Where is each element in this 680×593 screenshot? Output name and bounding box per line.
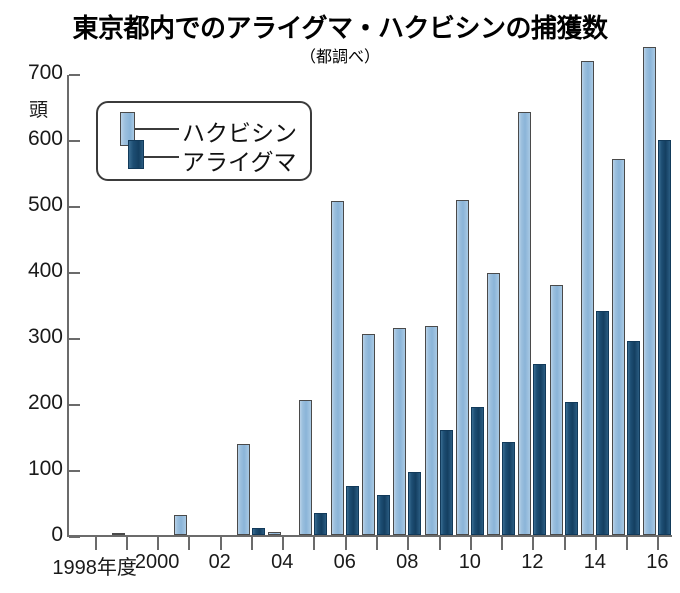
- y-axis-tick-0: [69, 536, 80, 538]
- bar-2003-araiguma: [252, 528, 265, 535]
- x-axis-tick-1999: [126, 537, 128, 550]
- bar-2015-araiguma: [627, 341, 640, 535]
- bar-2012-araiguma: [533, 364, 546, 535]
- y-axis-label-200: 200: [7, 391, 63, 415]
- bar-2010-araiguma: [471, 407, 484, 535]
- bar-2003-hakubishin: [237, 444, 250, 535]
- x-axis-label-2000: 2000: [135, 551, 180, 574]
- bar-2007-araiguma: [377, 495, 390, 535]
- y-axis-tick-600: [69, 140, 80, 142]
- x-axis-tick-2007: [376, 537, 378, 550]
- bar-chart: 東京都内でのアライグマ・ハクビシンの捕獲数 （都調べ） 010020030040…: [0, 0, 680, 593]
- chart-legend: ハクビシン アライグマ: [96, 101, 312, 181]
- bar-2005-hakubishin: [299, 400, 312, 535]
- y-axis-label-700: 700: [7, 61, 63, 85]
- x-axis-label-2004: 04: [271, 551, 293, 574]
- y-axis-tick-300: [69, 338, 80, 340]
- bar-2016-araiguma: [658, 140, 671, 535]
- chart-title: 東京都内でのアライグマ・ハクビシンの捕獲数: [0, 8, 680, 45]
- bar-2005-araiguma: [314, 513, 327, 535]
- y-axis-tick-100: [69, 470, 80, 472]
- bar-2004-hakubishin: [268, 532, 281, 535]
- bar-2010-hakubishin: [456, 200, 469, 535]
- x-axis-tick-2011: [501, 537, 503, 550]
- bar-2009-hakubishin: [425, 326, 438, 535]
- dark-blue-bar-icon: [128, 140, 144, 169]
- y-axis-tick-500: [69, 206, 80, 208]
- x-axis-tick-2009: [439, 537, 441, 550]
- x-axis-tick-2006: [345, 537, 347, 550]
- bar-2006-araiguma: [346, 486, 359, 536]
- bar-2012-hakubishin: [518, 112, 531, 535]
- bar-2006-hakubishin: [331, 201, 344, 535]
- bar-2001-hakubishin: [174, 515, 187, 535]
- x-axis-label-2016: 16: [646, 551, 668, 574]
- bar-2008-araiguma: [408, 472, 421, 535]
- chart-subtitle: （都調べ）: [0, 43, 680, 67]
- y-axis-tick-200: [69, 404, 80, 406]
- x-axis-tick-2008: [407, 537, 409, 550]
- bar-2013-hakubishin: [550, 285, 563, 535]
- legend-label-araiguma: アライグマ: [182, 143, 297, 177]
- bar-2014-araiguma: [596, 311, 609, 535]
- x-axis-tick-2016: [657, 537, 659, 550]
- x-axis-label-2012: 12: [521, 551, 543, 574]
- bar-2016-hakubishin: [643, 47, 656, 535]
- x-axis-tick-2004: [282, 537, 284, 550]
- legend-leader-line-1: [135, 128, 179, 130]
- y-axis-label-300: 300: [7, 325, 63, 349]
- legend-leader-line-2: [144, 156, 179, 158]
- x-axis-label-1998: 1998年度: [52, 551, 137, 580]
- bar-2014-hakubishin: [581, 61, 594, 535]
- bar-1999-hakubishin: [112, 533, 125, 535]
- x-axis-label-2014: 14: [584, 551, 606, 574]
- y-axis-label-0: 0: [7, 523, 63, 547]
- x-axis-tick-2003: [251, 537, 253, 550]
- x-axis-tick-2002: [220, 537, 222, 550]
- y-axis-tick-700: [69, 74, 80, 76]
- x-axis-tick-2012: [532, 537, 534, 550]
- x-axis-tick-2005: [313, 537, 315, 550]
- x-axis-label-2008: 08: [396, 551, 418, 574]
- x-axis-tick-1998: [95, 537, 97, 550]
- x-axis-label-2002: 02: [209, 551, 231, 574]
- y-axis-label-500: 500: [7, 193, 63, 217]
- x-axis-tick-2010: [470, 537, 472, 550]
- bar-2008-hakubishin: [393, 328, 406, 535]
- x-axis-tick-2000: [157, 537, 159, 550]
- y-axis-label-400: 400: [7, 259, 63, 283]
- y-axis-label-100: 100: [7, 457, 63, 481]
- bar-2011-hakubishin: [487, 273, 500, 535]
- bar-2009-araiguma: [440, 430, 453, 535]
- x-axis-tick-2001: [188, 537, 190, 550]
- y-axis-label-600: 600: [7, 127, 63, 151]
- x-axis-tick-2013: [564, 537, 566, 550]
- y-axis-tick-400: [69, 272, 80, 274]
- bar-2007-hakubishin: [362, 334, 375, 535]
- bar-2013-araiguma: [565, 402, 578, 535]
- x-axis-tick-2015: [626, 537, 628, 550]
- bar-2015-hakubishin: [612, 159, 625, 535]
- x-axis-label-2006: 06: [334, 551, 356, 574]
- bar-2011-araiguma: [502, 442, 515, 535]
- y-axis-unit-label: 頭: [29, 95, 48, 122]
- x-axis-label-2010: 10: [459, 551, 481, 574]
- x-axis-tick-2014: [595, 537, 597, 550]
